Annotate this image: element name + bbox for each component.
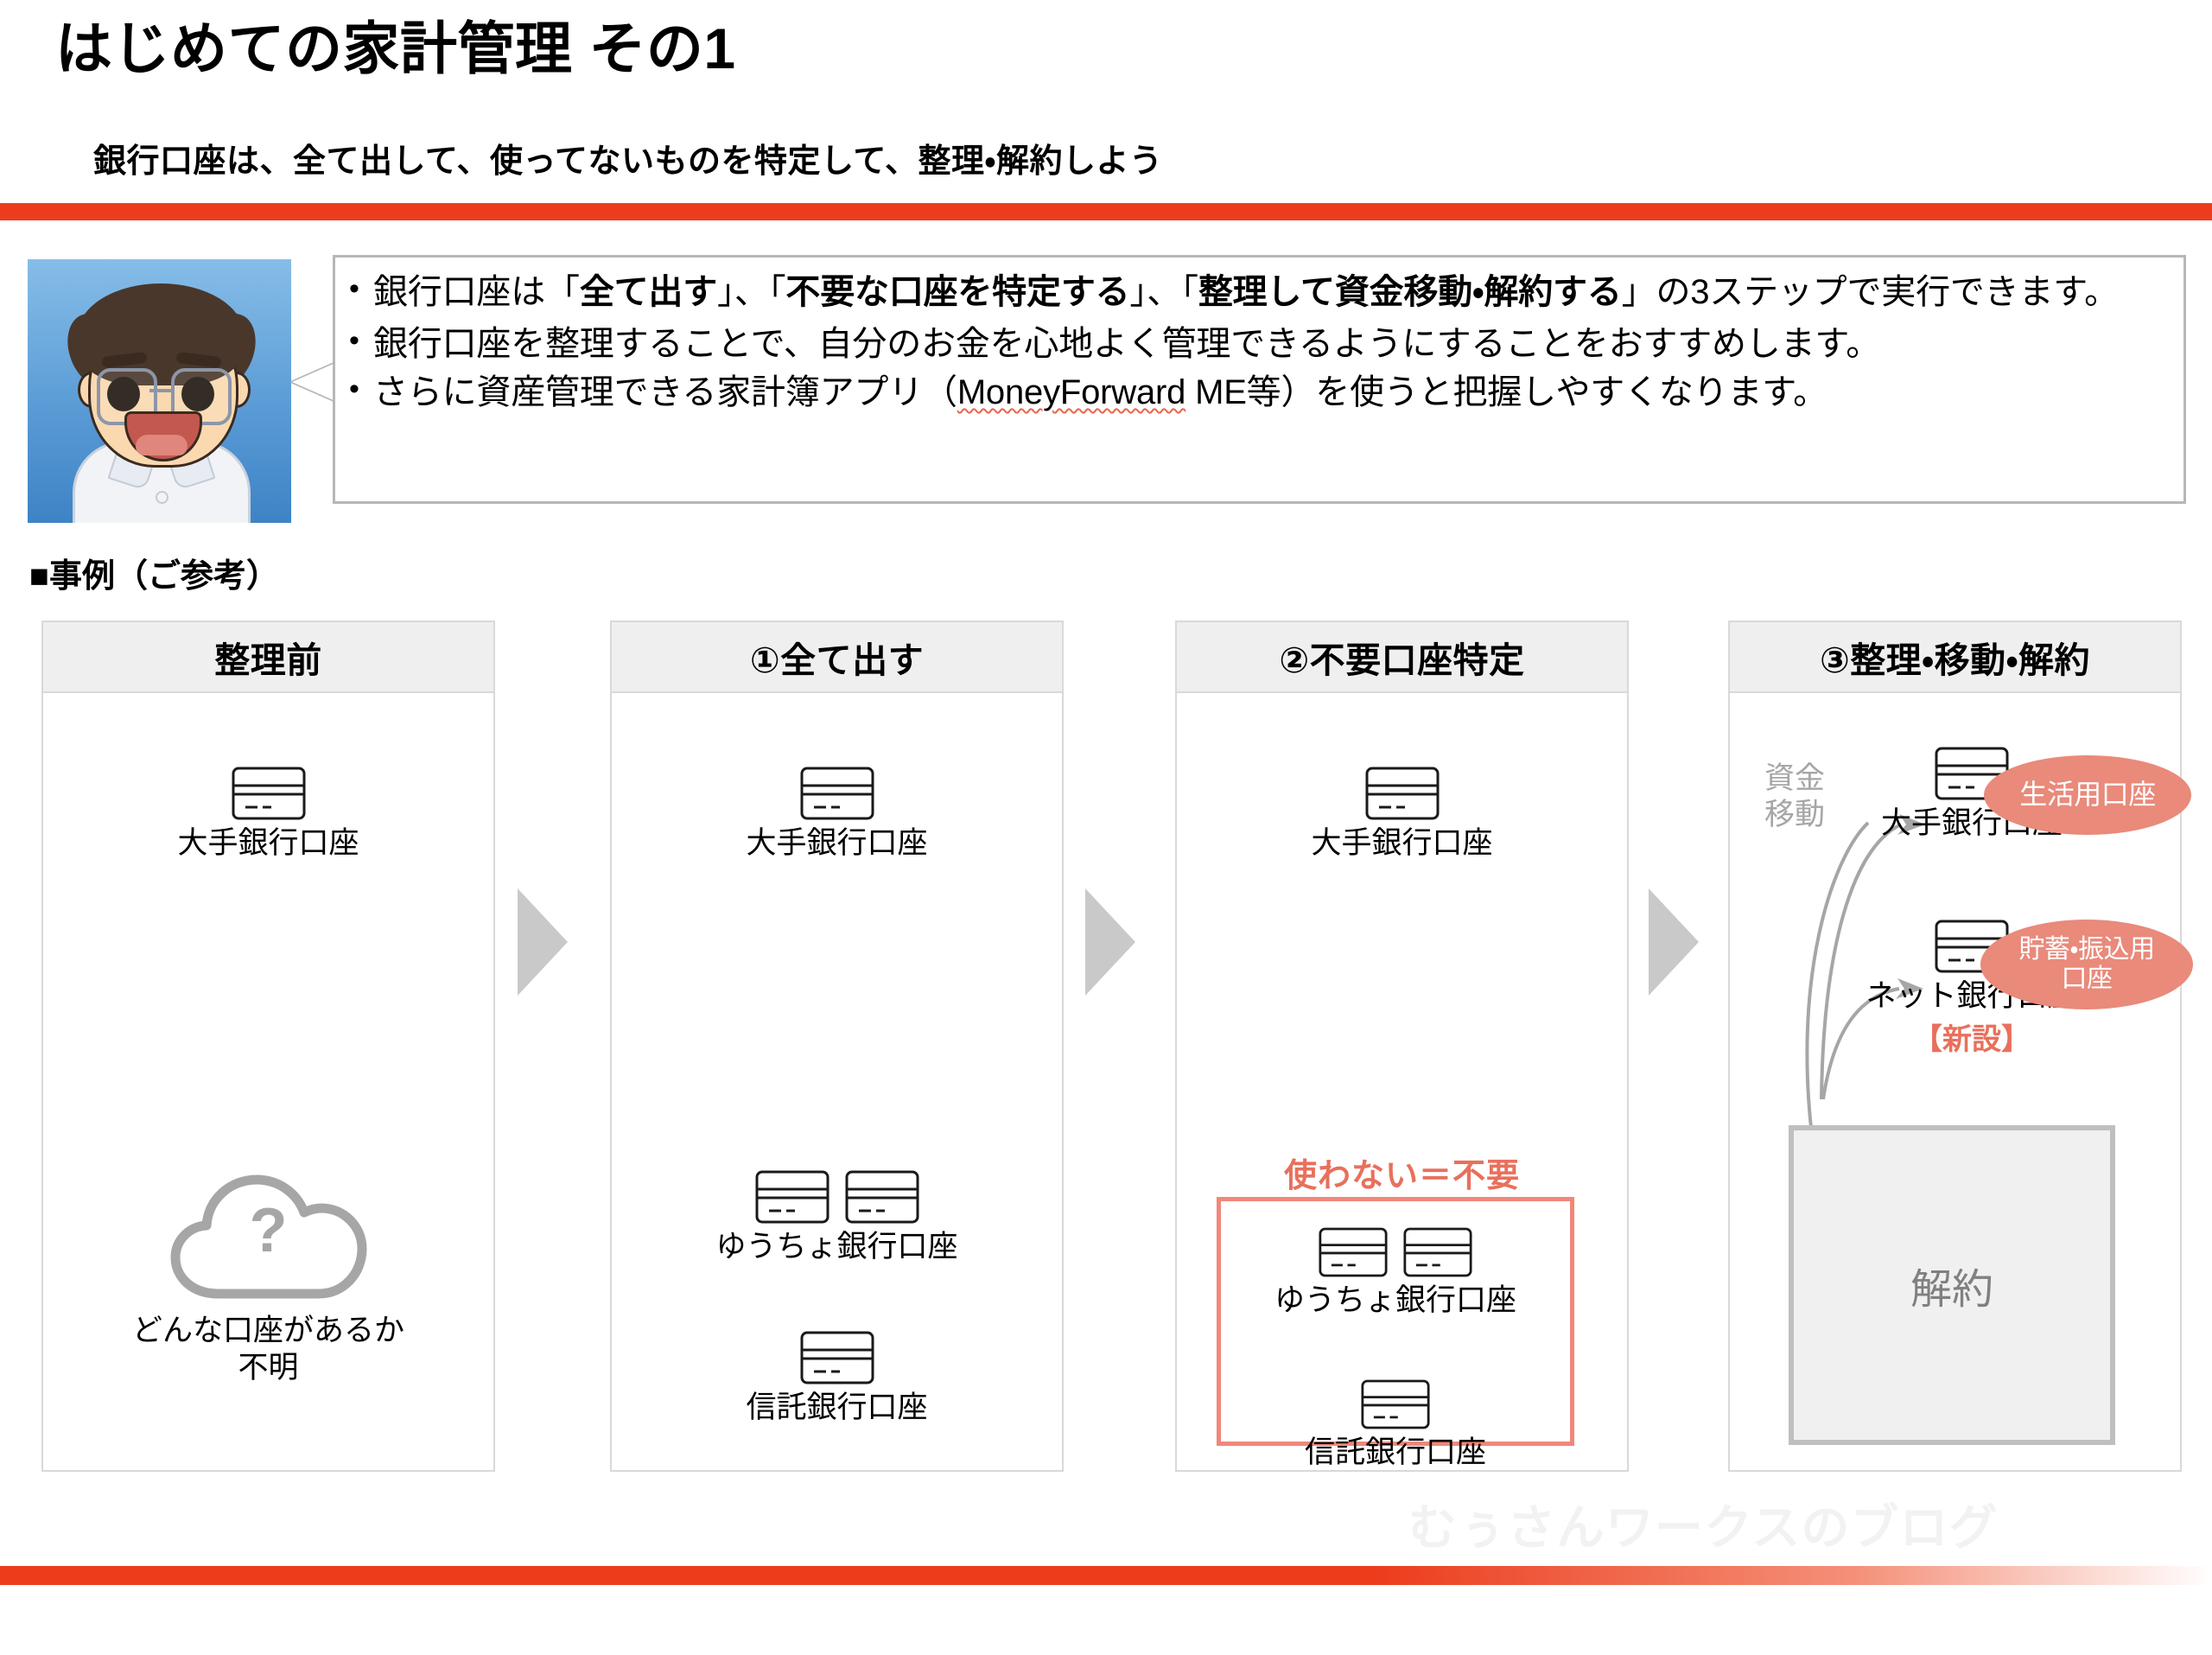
callout-bullet-3: • さらに資産管理できる家計簿アプリ（MoneyForward ME等）を使うと… (349, 370, 2166, 415)
panel-step2-title: ②不要口座特定 (1177, 622, 1627, 693)
account-trust-bank: 信託銀行口座 (612, 1331, 1062, 1427)
account-major-bank: 大手銀行口座 (43, 767, 493, 863)
bullet-marker-icon: • (349, 370, 373, 410)
card-group (612, 1331, 1062, 1384)
account-label: 信託銀行口座 (1221, 1435, 1570, 1472)
card-group (1221, 1379, 1570, 1429)
account-unknown-cloud: ? どんな口座があるか 不明 (43, 1173, 493, 1386)
page-title: はじめての家計管理 その1 (55, 17, 736, 80)
bank-card-icon (1403, 1227, 1472, 1277)
step-arrow-icon-3 (1649, 888, 1699, 996)
account-major-bank: 大手銀行口座 (612, 767, 1062, 863)
account-label: ゆうちょ銀行口座 (612, 1229, 1062, 1266)
callout-bullet-1-text: 銀行口座は「全て出す」、「不要な口座を特定する」、「整理して資金移動・解約する」… (373, 270, 2166, 315)
account-label: ゆうちょ銀行口座 (1221, 1283, 1570, 1320)
callout-bullet-3-text: さらに資産管理できる家計簿アプリ（MoneyForward ME等）を使うと把握… (373, 370, 2166, 415)
avatar-tongue (136, 435, 188, 455)
bank-card-icon (1319, 1227, 1388, 1277)
blog-watermark: むぅさんワークスのブログ (1408, 1489, 1998, 1559)
card-group (612, 1170, 1062, 1224)
avatar-shirt-button (156, 491, 168, 504)
card-group (43, 767, 493, 820)
footer-divider-rule (0, 1566, 2212, 1585)
cancel-accounts-box: 解約 (1789, 1125, 2115, 1445)
panel-before-title: 整理前 (43, 622, 493, 693)
card-group (612, 767, 1062, 820)
callout-bullet-2-text: 銀行口座を整理することで、自分のお金を心地よく管理できるようにすることをおすすめ… (373, 321, 2166, 366)
header-divider-rule (0, 203, 2212, 220)
badge-living-account: 生活用口座 (1984, 755, 2191, 835)
panel-step1: ①全て出す 大手銀行口座 (610, 621, 1064, 1472)
callout-box: • 銀行口座は「全て出す」、「不要な口座を特定する」、「整理して資金移動・解約す… (333, 255, 2186, 504)
card-group (1221, 1227, 1570, 1277)
bank-card-icon (845, 1170, 919, 1224)
account-label: どんな口座があるか 不明 (43, 1313, 493, 1386)
account-yucho-bank: ゆうちょ銀行口座 (612, 1170, 1062, 1266)
avatar (28, 259, 291, 523)
account-major-bank: 大手銀行口座 (1177, 767, 1627, 863)
panel-step1-title: ①全て出す (612, 622, 1062, 693)
bank-card-icon (755, 1170, 829, 1224)
badge-savings-transfer-account: 貯蓄・振込用 口座 (1980, 920, 2193, 1009)
new-account-tag: 【新設】 (1834, 1015, 2110, 1058)
page-subtitle: 銀行口座は、全て出して、使ってないものを特定して、整理・解約しよう (93, 134, 1162, 181)
account-label: 信託銀行口座 (612, 1390, 1062, 1427)
unused-warning-label: 使わない＝不要 (1177, 1149, 1627, 1196)
callout-bullet-1: • 銀行口座は「全て出す」、「不要な口座を特定する」、「整理して資金移動・解約す… (349, 270, 2166, 315)
bank-card-icon (800, 767, 874, 820)
card-group (1177, 767, 1627, 820)
example-section-label: ■事例（ご参考） (29, 549, 279, 596)
unnecessary-accounts-highlight-box: ゆうちょ銀行口座 信託銀行口座 (1217, 1197, 1574, 1446)
step-arrow-icon-1 (518, 888, 568, 996)
bullet-marker-icon: • (349, 270, 373, 309)
question-mark-icon: ? (43, 1195, 493, 1266)
account-yucho-bank: ゆうちょ銀行口座 (1221, 1227, 1570, 1320)
account-label: 大手銀行口座 (1177, 825, 1627, 863)
avatar-glasses-bridge (149, 389, 172, 392)
account-label: 大手銀行口座 (43, 825, 493, 863)
callout-bullet-2: • 銀行口座を整理することで、自分のお金を心地よく管理できるようにすることをおす… (349, 321, 2166, 366)
cloud-group: ? (43, 1173, 493, 1302)
bank-card-icon (1361, 1379, 1430, 1429)
callout-pointer (292, 363, 335, 401)
bullet-marker-icon: • (349, 321, 373, 361)
panel-step3: ③整理・移動・解約 資金 移動 (1728, 621, 2182, 1472)
bank-card-icon (1365, 767, 1440, 820)
panel-step3-title: ③整理・移動・解約 (1730, 622, 2180, 693)
bank-card-icon (800, 1331, 874, 1384)
account-label: 大手銀行口座 (612, 825, 1062, 863)
step-arrow-icon-2 (1085, 888, 1135, 996)
account-trust-bank: 信託銀行口座 (1221, 1379, 1570, 1472)
panel-step2: ②不要口座特定 大手銀行口座 使わない＝不要 (1175, 621, 1629, 1472)
panel-before: 整理前 大手銀行口座 ? どんな口座がある (41, 621, 495, 1472)
bank-card-icon (232, 767, 306, 820)
